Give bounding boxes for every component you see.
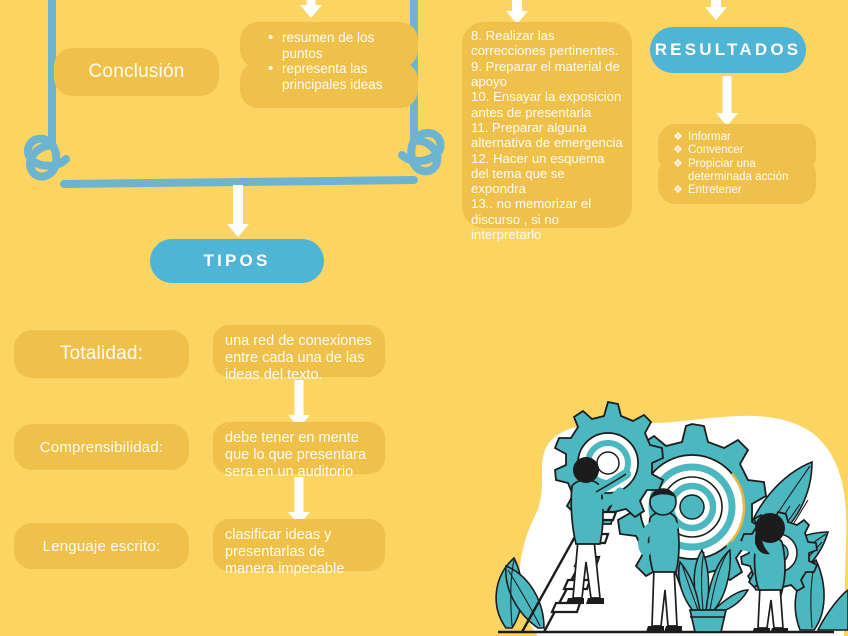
tipos-label-text: Comprensibilidad:	[40, 439, 163, 456]
tipos-row-label-comprensibilidad: Comprensibilidad:	[14, 424, 189, 470]
resultados-item-list: Informar Convencer Propiciar una determi…	[674, 131, 816, 198]
resultados-badge-label: RESULTADOS	[655, 40, 802, 60]
conclusion-label-pill: Conclusión	[54, 48, 219, 96]
arrow-to-tipos-badge	[226, 185, 250, 237]
conclusion-bullets-box: resumen de los puntos representa las pri…	[240, 22, 418, 108]
tipos-badge-label: TIPOS	[203, 251, 270, 271]
list-item: resumen de los puntos	[268, 30, 418, 61]
teamwork-gears-illustration	[460, 400, 848, 636]
steps-text-box: 8. Realizar las correcciones pertinentes…	[462, 22, 632, 228]
arrow-tipos-2-to-3	[288, 477, 310, 525]
tipos-row-description-comprensibilidad: debe tener en mente que lo que presentar…	[213, 422, 385, 474]
tipos-label-text: Totalidad:	[60, 343, 143, 365]
resultados-badge[interactable]: RESULTADOS	[650, 27, 806, 73]
arrow-to-steps-box	[505, 0, 529, 24]
list-item: Propiciar una determinada acción	[674, 158, 816, 185]
conclusion-bullet-list: resumen de los puntos representa las pri…	[268, 30, 418, 92]
arrow-to-conclusion-bullets	[300, 0, 322, 18]
tipos-row-description-lenguaje-escrito: clasificar ideas y presentarlas de maner…	[213, 519, 385, 571]
tipos-row-description-totalidad: una red de conexiones entre cada una de …	[213, 325, 385, 377]
conclusion-label-text: Conclusión	[89, 61, 185, 83]
resultados-list-box: Informar Convencer Propiciar una determi…	[658, 124, 816, 204]
tipos-row-label-lenguaje-escrito: Lenguaje escrito:	[14, 523, 189, 569]
arrow-to-resultados-list	[716, 76, 738, 126]
list-item: representa las principales ideas	[268, 61, 418, 92]
list-item: Informar	[674, 131, 816, 144]
infographic-canvas: Conclusión resumen de los puntos represe…	[0, 0, 848, 636]
tipos-row-label-totalidad: Totalidad:	[14, 330, 189, 378]
tipos-label-text: Lenguaje escrito:	[43, 538, 161, 555]
list-item: Convencer	[674, 144, 816, 157]
list-item: Entretener	[674, 184, 816, 197]
arrow-tipos-1-to-2	[288, 380, 310, 428]
arrow-to-resultados-badge	[704, 0, 728, 20]
tipos-badge[interactable]: TIPOS	[150, 239, 324, 283]
